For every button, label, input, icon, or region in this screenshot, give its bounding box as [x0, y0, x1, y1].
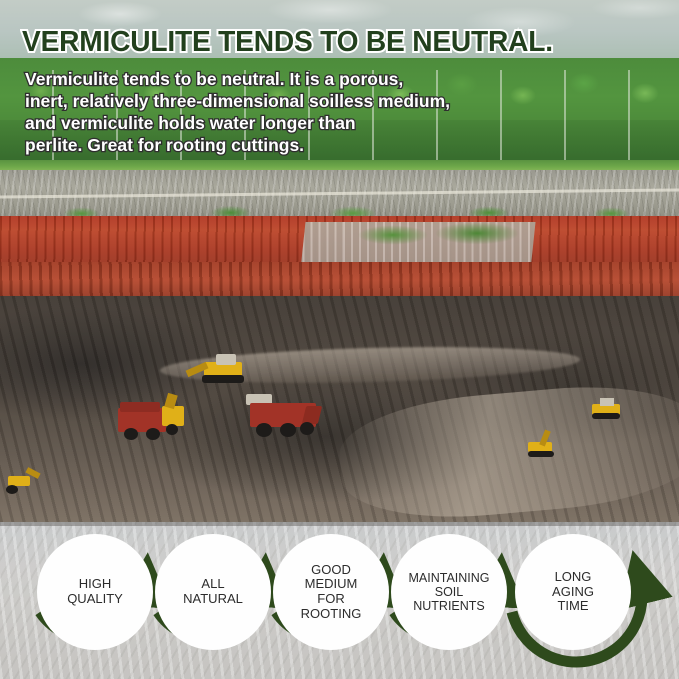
headline: VERMICULITE TENDS TO BE NEUTRAL.: [22, 26, 643, 59]
body-copy: Vermiculite tends to be neutral. It is a…: [25, 68, 555, 156]
feature-circle-3[interactable]: GOODMEDIUMFORROOTING: [273, 534, 389, 650]
body-line: and vermiculite holds water longer than: [25, 112, 555, 134]
feature-label-5: LONGAGINGTIME: [546, 570, 600, 614]
yellow-excavator-lower: [524, 430, 560, 460]
body-line: perlite. Great for rooting cuttings.: [25, 134, 555, 156]
yellow-machine-left: [2, 468, 42, 494]
feature-label-3: GOODMEDIUMFORROOTING: [295, 563, 368, 621]
feature-circle-2[interactable]: ALLNATURAL: [155, 534, 271, 650]
feature-label-4: MAINTAININGSOILNUTRIENTS: [402, 571, 495, 613]
infographic-root: VERMICULITE TENDS TO BE NEUTRAL. Vermicu…: [0, 0, 679, 679]
red-haul-truck: [118, 398, 198, 446]
red-dump-truck: [246, 392, 330, 442]
hero-photo: VERMICULITE TENDS TO BE NEUTRAL. Vermicu…: [0, 0, 679, 522]
body-line: Vermiculite tends to be neutral. It is a…: [25, 68, 555, 90]
yellow-excavator: [186, 352, 248, 384]
feature-circle-1[interactable]: HIGHQUALITY: [37, 534, 153, 650]
slope-vegetation: [330, 218, 540, 252]
yellow-loader-right: [586, 398, 628, 422]
feature-label-2: ALLNATURAL: [177, 577, 249, 606]
features-panel: HIGHQUALITY ALLNATURAL GOODMEDIUMFORROOT…: [0, 522, 679, 679]
body-line: inert, relatively three-dimensional soil…: [25, 90, 555, 112]
feature-circle-4[interactable]: MAINTAININGSOILNUTRIENTS: [391, 534, 507, 650]
feature-circle-5[interactable]: LONGAGINGTIME: [515, 534, 631, 650]
feature-label-1: HIGHQUALITY: [61, 577, 129, 606]
